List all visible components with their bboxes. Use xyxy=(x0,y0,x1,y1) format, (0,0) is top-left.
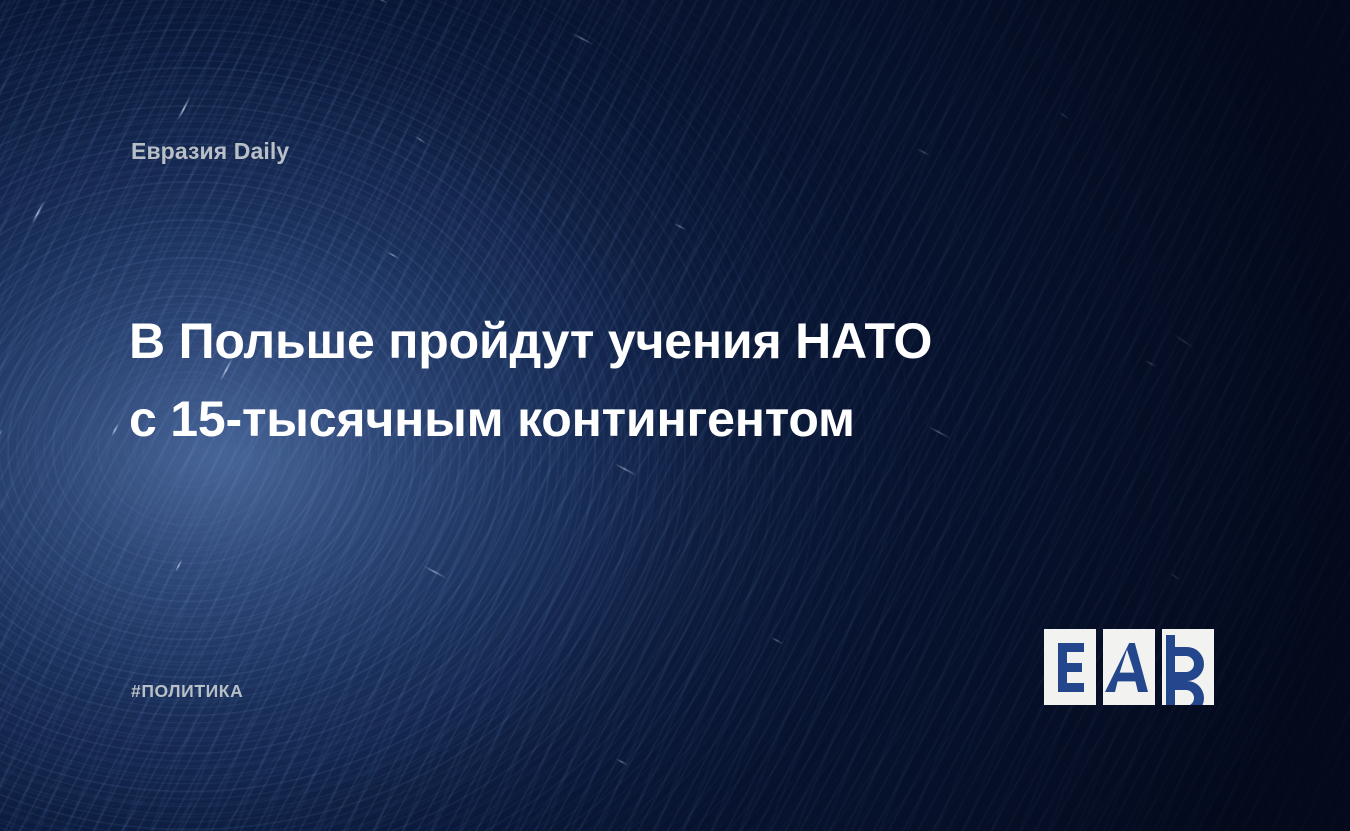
logo-tile-a xyxy=(1103,629,1155,705)
eadaily-logo[interactable] xyxy=(1044,629,1220,705)
headline-line-1: В Польше пройдут учения НАТО xyxy=(129,302,1049,380)
logo-letter-e xyxy=(1058,643,1084,692)
news-share-card: Евразия Daily В Польше пройдут учения НА… xyxy=(0,0,1350,831)
headline-line-2: с 15-тысячным контингентом xyxy=(129,380,1049,458)
site-name: Евразия Daily xyxy=(131,138,289,165)
headline: В Польше пройдут учения НАТО с 15-тысячн… xyxy=(129,302,1049,458)
category-tag[interactable]: #ПОЛИТИКА xyxy=(131,681,243,702)
